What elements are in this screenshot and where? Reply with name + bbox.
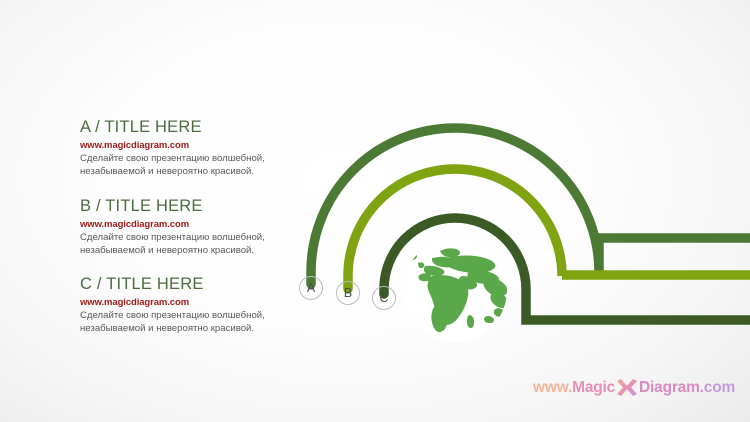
arc-diagram	[0, 0, 750, 422]
slide-canvas: A / TITLE HERE www.magicdiagram.com Сдел…	[0, 0, 750, 422]
watermark[interactable]: www.MagicDiagram.com	[533, 378, 735, 397]
marker-b-label: B	[344, 286, 352, 300]
marker-a-label: A	[307, 281, 315, 295]
marker-c[interactable]: C	[372, 286, 396, 310]
watermark-diagram: Diagram	[639, 379, 700, 397]
magicdiagram-logo-icon	[616, 378, 638, 397]
watermark-com: .com	[700, 379, 735, 397]
watermark-magic: Magic	[572, 379, 615, 397]
marker-b[interactable]: B	[336, 281, 360, 305]
globe-graphic	[401, 238, 509, 342]
marker-a[interactable]: A	[299, 276, 323, 300]
marker-c-label: C	[379, 291, 388, 305]
watermark-www: www.	[533, 379, 572, 397]
